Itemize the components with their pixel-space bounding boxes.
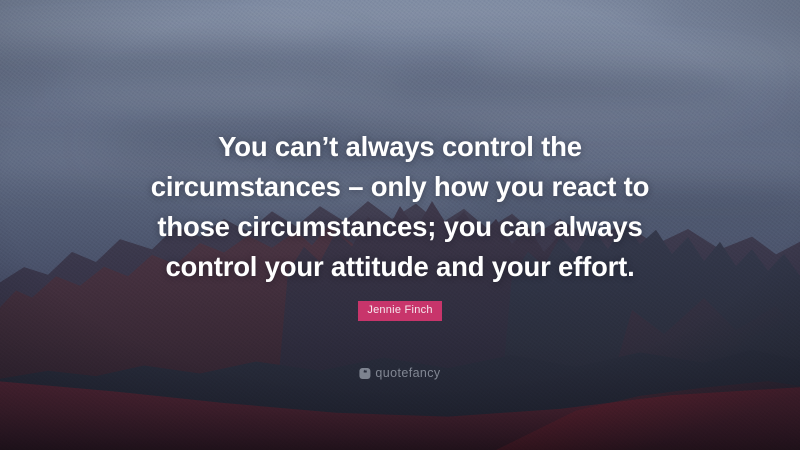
author-name-badge[interactable]: Jennie Finch <box>358 301 441 321</box>
quote-line: control your attitude and your effort. <box>140 247 660 287</box>
quote-content: You can’t always control the circumstanc… <box>0 0 800 450</box>
quotefancy-watermark[interactable]: ❝ quotefancy <box>359 366 440 380</box>
quote-image-card: You can’t always control the circumstanc… <box>0 0 800 450</box>
quote-line: You can’t always control the <box>140 127 660 167</box>
quote-line: those circumstances; you can always <box>140 207 660 247</box>
quote-line: circumstances – only how you react to <box>140 167 660 207</box>
quote-text: You can’t always control the circumstanc… <box>140 127 660 287</box>
quotefancy-brand-label: quotefancy <box>375 366 440 380</box>
quotefancy-logo-icon: ❝ <box>359 368 370 379</box>
